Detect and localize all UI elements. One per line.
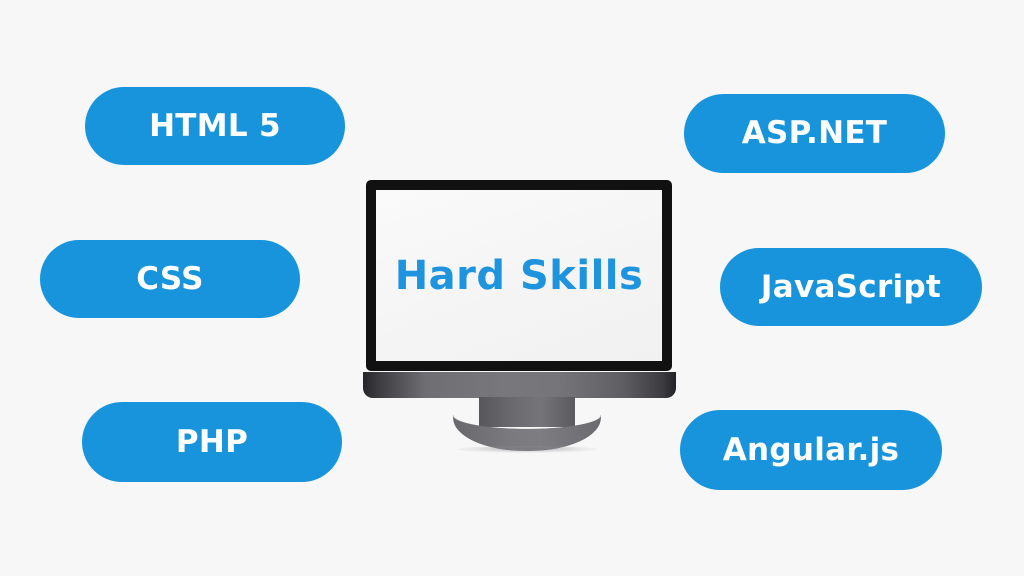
monitor-bezel: Hard Skills <box>366 180 672 371</box>
skill-pill-php[interactable]: PHP <box>82 402 342 482</box>
skill-pill-label: CSS <box>136 264 204 295</box>
skill-pill-label: Angular.js <box>723 435 900 466</box>
infographic-canvas: HTML 5 CSS PHP ASP.NET JavaScript Angula… <box>0 0 1024 576</box>
skill-pill-angularjs[interactable]: Angular.js <box>680 410 942 490</box>
monitor-stand-shadow <box>456 446 598 453</box>
monitor-illustration: Hard Skills <box>360 175 680 455</box>
monitor-base <box>363 372 676 398</box>
skill-pill-label: PHP <box>176 427 248 458</box>
skill-pill-label: ASP.NET <box>742 118 888 149</box>
skill-pill-aspnet[interactable]: ASP.NET <box>684 94 945 173</box>
skill-pill-html5[interactable]: HTML 5 <box>85 87 345 165</box>
page-title: Hard Skills <box>395 256 644 296</box>
skill-pill-javascript[interactable]: JavaScript <box>720 248 982 326</box>
skill-pill-label: JavaScript <box>761 272 941 303</box>
skill-pill-css[interactable]: CSS <box>40 240 300 318</box>
monitor-screen: Hard Skills <box>376 190 662 361</box>
skill-pill-label: HTML 5 <box>149 111 281 142</box>
